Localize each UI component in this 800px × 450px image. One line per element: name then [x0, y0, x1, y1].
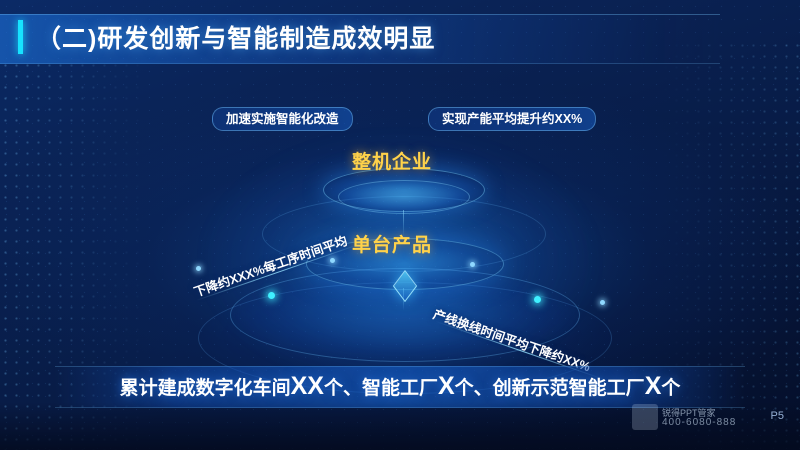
- slide-root: （二)研发创新与智能制造成效明显 加速实施智能化改造 实现产能平均提升约XX% …: [0, 0, 800, 450]
- diagram-top-label: 整机企业: [352, 147, 432, 174]
- bottom-text-part-3: 个、创新示范智能工厂: [455, 378, 645, 399]
- watermark-logo-icon: [632, 404, 658, 430]
- diagram-node-far-left: [196, 266, 201, 271]
- title-accent-bar: [18, 20, 23, 54]
- diagram-mid-label: 单台产品: [352, 230, 432, 257]
- bottom-number-3: X: [645, 372, 662, 400]
- bottom-text-part-1: 累计建成数字化车间: [120, 378, 291, 399]
- diagram-node-left: [268, 292, 275, 299]
- bottom-text-part-2: 个、智能工厂: [324, 378, 438, 399]
- bottom-summary-text: 累计建成数字化车间XX个、智能工厂X个、创新示范智能工厂X个: [0, 372, 800, 401]
- diagram-node-upper-left: [330, 258, 335, 263]
- diagram-disc-top-inner: [338, 180, 470, 214]
- bottom-number-2: X: [438, 372, 455, 400]
- pill-label-1: 加速实施智能化改造: [212, 107, 353, 131]
- page-title: （二)研发创新与智能制造成效明显: [36, 19, 435, 55]
- pill-label-2: 实现产能平均提升约XX%: [428, 107, 596, 131]
- bottom-text-part-4: 个: [661, 378, 680, 399]
- diagram-node-upper-right: [470, 262, 475, 267]
- watermark-phone-text: 400-6080-888: [662, 417, 736, 428]
- diagram-node-far-right: [600, 300, 605, 305]
- bottom-number-1: XX: [291, 372, 324, 400]
- page-number: P5: [771, 410, 784, 422]
- diagram-node-right: [534, 296, 541, 303]
